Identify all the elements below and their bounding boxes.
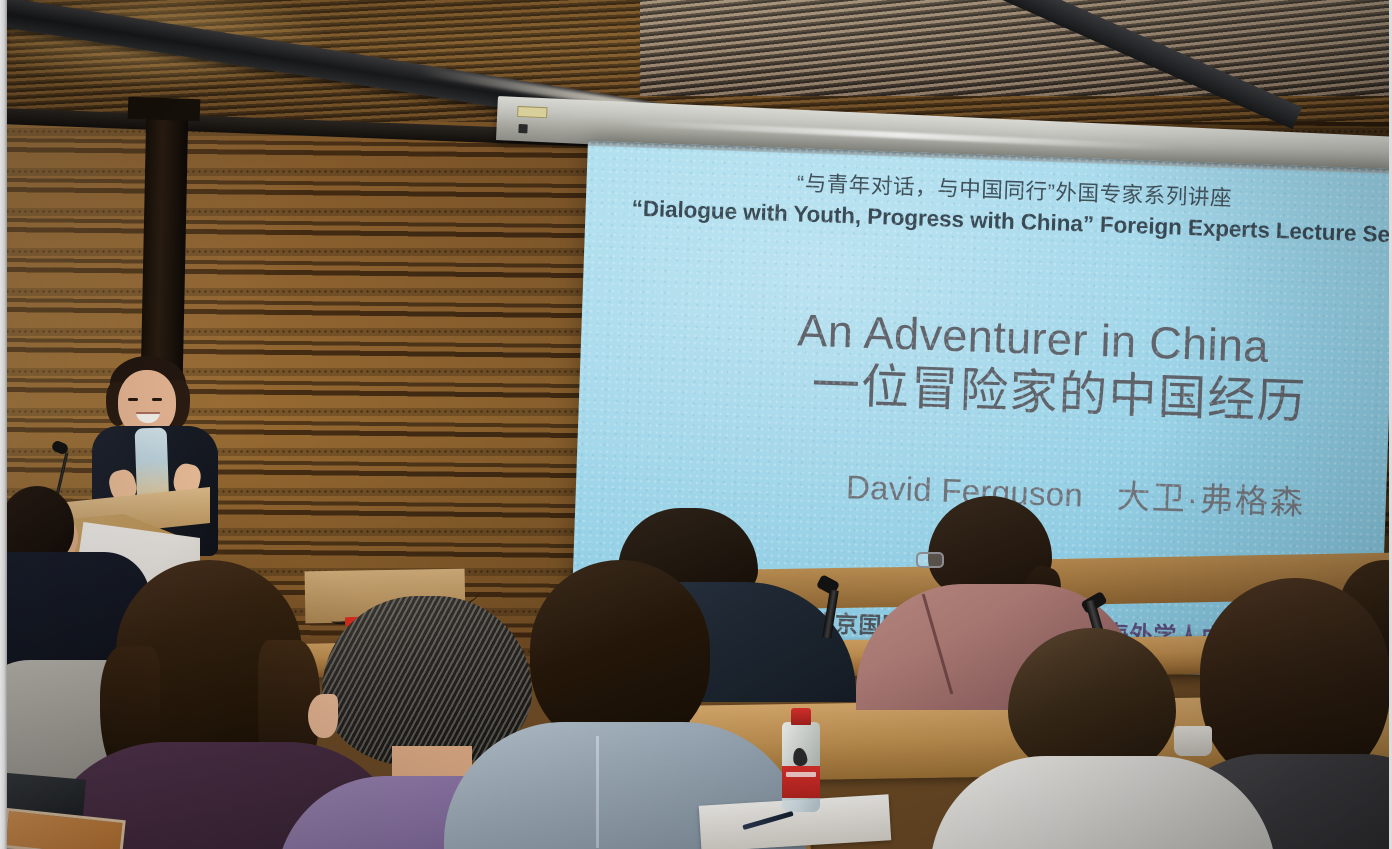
jacket-seam: [596, 736, 599, 848]
slide-title: An Adventurer in China 一位冒险家的中国经历: [795, 303, 1392, 448]
photo-border-left: [0, 0, 7, 849]
slide-header: “与青年对话，与中国同行”外国专家系列讲座 “Dialogue with You…: [585, 159, 1392, 248]
speaker-name-chinese: 大卫·弗格森: [1116, 478, 1305, 522]
paper-cup: [1174, 726, 1212, 756]
presenter-eye-right: [152, 398, 162, 401]
housing-button[interactable]: [518, 124, 527, 133]
presenter-eye-left: [128, 398, 138, 401]
audience-member: [960, 628, 1260, 849]
audience-ear: [308, 694, 338, 738]
lecture-hall-photo: “与青年对话，与中国同行”外国专家系列讲座 “Dialogue with You…: [0, 0, 1392, 849]
audience-shoulders: [930, 756, 1276, 849]
ceiling-slats-right: [640, 0, 1392, 96]
bottle-label: [782, 766, 820, 798]
water-bottle: [782, 708, 820, 812]
bottle-cap: [791, 708, 811, 725]
housing-warning-label: [517, 106, 547, 118]
column-cap: [128, 97, 201, 121]
glasses-icon: [916, 552, 944, 568]
